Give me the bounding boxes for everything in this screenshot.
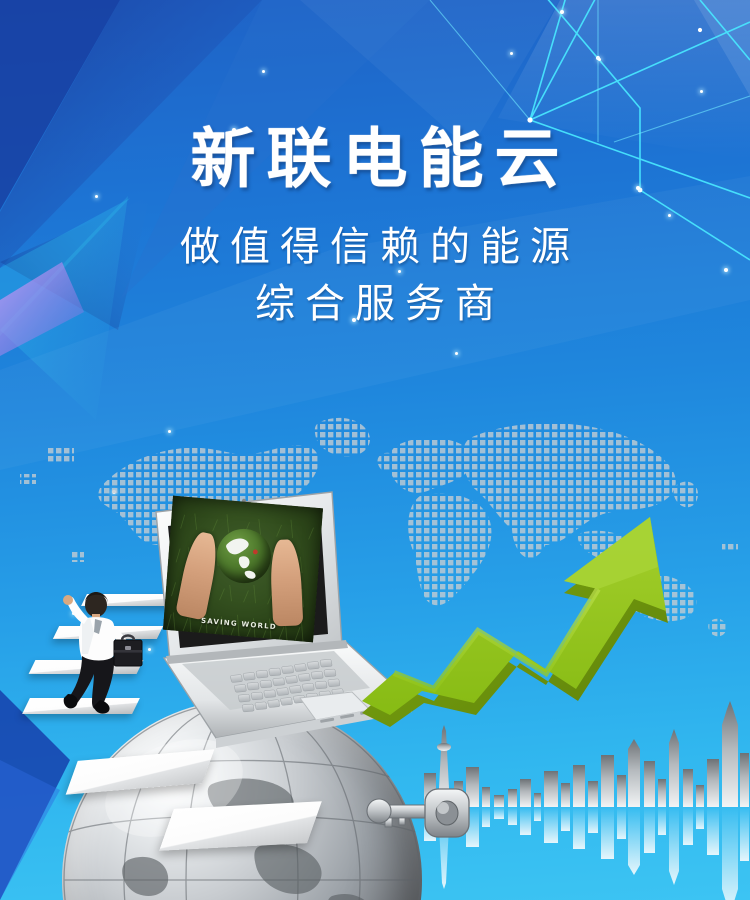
floating-slab [159, 801, 322, 851]
grass-globe [215, 526, 273, 585]
key-icon [355, 775, 475, 855]
growth-arrow-icon [350, 515, 690, 745]
laptop-screen-image: SAVING WORLD [163, 496, 323, 643]
promotional-poster: 新联电能云 做值得信赖的能源 综合服务商 [0, 0, 750, 900]
